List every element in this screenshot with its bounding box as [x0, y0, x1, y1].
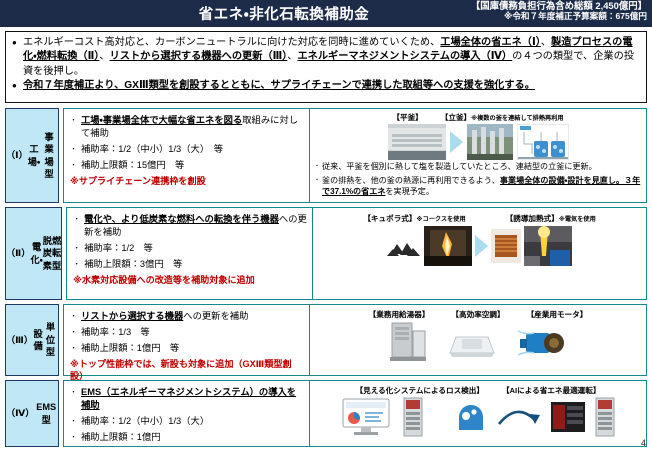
detail-item-text: 補助率：1/2（中小）1/3（大）	[81, 415, 305, 428]
detail-item: ・ 補助率：1/2（中小）1/3（大）	[70, 415, 305, 428]
visual-caption: 【高効率空調】	[451, 309, 504, 320]
row-category-label[interactable]: （Ⅳ）EMS型	[5, 380, 59, 447]
high-efficiency-aircon-photo	[444, 323, 500, 363]
bullet-dot-icon: ・	[70, 310, 81, 323]
detail-item: ・ 工場・事業場全体で大幅な省エネを図る取組みに対して補助	[70, 114, 305, 140]
commercial-water-heater-photo	[388, 321, 428, 365]
detail-item: ・ 補助上限額：15億円 等	[70, 159, 305, 172]
row-note: ※水素対応設備への改造等を補助対象に追加	[73, 274, 308, 286]
category-line: （Ⅱ）	[6, 247, 30, 260]
detail-item-text: 補助上限額：3億円 等	[84, 258, 308, 271]
flat-pan-photo	[388, 124, 446, 160]
category-line: 設備	[33, 328, 43, 353]
induction-coil-photo	[491, 229, 521, 263]
category-row: （Ⅲ）設備単位型 ・ リストから選択する機器への更新を補助 ・ 補助率：1/3 …	[5, 304, 647, 376]
category-line: （Ⅳ）	[6, 407, 34, 420]
row-visual-panel: 【業務用給湯器】【高効率空調】【産業用モータ】	[310, 305, 646, 375]
summary-bullet-text: エネルギーコスト高対応と、カーボンニュートラルに向けた対応を同時に進めていくため…	[23, 36, 640, 79]
slide-root: 省エネ・非化石転換補助金 【国庫債務負担行為含め総額 2,450億円】 ※令和７…	[0, 0, 652, 450]
tall-pan-photo	[467, 124, 513, 160]
row-visual-panel: 【平釜】 【立釜】※複数の釜を連結して排熱再利用 ・ 従来、平釜を個別に熱して塩…	[310, 109, 646, 202]
detail-item-text: 工場・事業場全体で大幅な省エネを図る取組みに対して補助	[81, 114, 305, 140]
transition-arrow-icon	[450, 131, 463, 153]
detail-item-text: 補助上限額：1億円	[81, 431, 305, 444]
bullet-dot-icon: ・	[70, 415, 81, 428]
row-visual-panel: 【キュポラ式】※コークスを使用 【誘導加熱式】※電気を使用	[313, 208, 646, 299]
detail-item: ・ 補助上限額：1億円 等	[70, 342, 305, 355]
bullet-dot-icon: ・	[70, 114, 81, 140]
visual-caption: 【誘導加熱式】※電気を使用	[506, 213, 596, 224]
header-budget-subtitle: ※令和７年度補正予算案額：675億円	[471, 12, 647, 22]
category-row: （Ⅱ）電化・脱炭素燃転型 ・ 電化や、より低炭素な燃料への転換を伴う機器への更新…	[5, 207, 647, 300]
category-line: 電化・	[30, 241, 42, 266]
visual-caption: 【立釜】※複数の釜を連結して排熱再利用	[441, 112, 564, 123]
bullet-dot-icon: ・	[73, 213, 84, 239]
bullet-dot-icon: ・	[314, 162, 322, 173]
bullet-dot-icon: ●	[12, 36, 23, 79]
detail-item-text: 補助率：1/2 等	[84, 242, 308, 255]
bullet-dot-icon: ・	[70, 326, 81, 339]
row-detail-text: ・ 工場・事業場全体で大幅な省エネを図る取組みに対して補助 ・ 補助率：1/2（…	[64, 109, 310, 202]
category-line: 脱炭素	[43, 235, 52, 273]
category-line: （Ⅲ）	[6, 334, 33, 347]
category-line: 燃転型	[52, 235, 61, 273]
visual-note: ・ 従来、平釜を個別に熱して塩を製造していたところ、連結型の立釜に更新。	[314, 162, 642, 173]
detail-item-text: 補助上限額：15億円 等	[81, 159, 305, 172]
summary-box: ●エネルギーコスト高対応と、カーボンニュートラルに向けた対応を同時に進めていくた…	[5, 31, 647, 103]
control-unit-photo	[551, 402, 585, 432]
ai-arrow-icon	[497, 406, 541, 428]
header-budget-total: 【国庫債務負担行為含め総額 2,450億円】	[471, 1, 647, 12]
detail-item-text: 補助率：1/3 等	[81, 326, 305, 339]
row-category-label[interactable]: （Ⅱ）電化・脱炭素燃転型	[5, 207, 62, 300]
row-body: ・ リストから選択する機器への更新を補助 ・ 補助率：1/3 等 ・ 補助上限額…	[63, 304, 647, 376]
detail-item: ・ EMS（エネルギーマネジメントシステム）の導入を補助	[70, 386, 305, 412]
detail-item-text: 補助上限額：1億円 等	[81, 342, 305, 355]
visual-note-text: 従来、平釜を個別に熱して塩を製造していたところ、連結型の立釜に更新。	[322, 162, 642, 173]
bullet-dot-icon: ・	[70, 431, 81, 444]
cupola-furnace-photo	[424, 226, 472, 266]
row-body: ・ 工場・事業場全体で大幅な省エネを図る取組みに対して補助 ・ 補助率：1/2（…	[63, 108, 647, 203]
header-budget-block: 【国庫債務負担行為含め総額 2,450億円】 ※令和７年度補正予算案額：675億…	[471, 1, 647, 21]
detail-item-text: 電化や、より低炭素な燃料への転換を伴う機器への更新を補助	[84, 213, 308, 239]
heat-reuse-diagram	[517, 124, 569, 160]
industrial-motor-photo	[516, 323, 568, 363]
category-row: （Ⅰ）工場・事業場型 ・ 工場・事業場全体で大幅な省エネを図る取組みに対して補助…	[5, 108, 647, 203]
category-line: 工場・	[28, 143, 40, 168]
visual-note: ・ 釜の排熱を、他の釜の熱源に再利用できるよう、事業場全体の設備・設計を見直し。…	[314, 176, 642, 198]
summary-bullet: ●エネルギーコスト高対応と、カーボンニュートラルに向けた対応を同時に進めていくた…	[12, 36, 640, 79]
bullet-dot-icon: ・	[314, 176, 322, 198]
visual-note-text: 釜の排熱を、他の釜の熱源に再利用できるよう、事業場全体の設備・設計を見直し。３年…	[322, 176, 642, 198]
detail-item-text: リストから選択する機器への更新を補助	[81, 310, 305, 323]
plc-controller-photo	[403, 397, 423, 437]
detail-item: ・ 補助上限額：3億円 等	[73, 258, 308, 271]
row-category-label[interactable]: （Ⅰ）工場・事業場型	[5, 108, 59, 203]
category-row: （Ⅳ）EMS型 ・ EMS（エネルギーマネジメントシステム）の導入を補助 ・ 補…	[5, 380, 647, 447]
category-line: （Ⅰ）	[6, 149, 28, 162]
row-detail-text: ・ EMS（エネルギーマネジメントシステム）の導入を補助 ・ 補助率：1/2（中…	[64, 381, 310, 446]
summary-bullet-text: 令和７年度補正より、GXⅢ類型を創設するとともに、サプライチェーンで連携した取組…	[23, 79, 640, 93]
detail-item: ・ リストから選択する機器への更新を補助	[70, 310, 305, 323]
row-note: ※サプライチェーン連携枠を創設	[70, 175, 305, 187]
visual-caption: 【見える化システムによるロス検出】	[356, 385, 484, 396]
bullet-dot-icon: ・	[70, 159, 81, 172]
category-line: 事業場型	[40, 131, 58, 181]
molten-pour-photo	[524, 226, 572, 266]
row-category-label[interactable]: （Ⅲ）設備単位型	[5, 304, 59, 376]
category-rows: （Ⅰ）工場・事業場型 ・ 工場・事業場全体で大幅な省エネを図る取組みに対して補助…	[5, 108, 647, 447]
row-detail-text: ・ 電化や、より低炭素な燃料への転換を伴う機器への更新を補助 ・ 補助率：1/2…	[67, 208, 313, 299]
visual-caption: 【平釜】	[392, 112, 422, 123]
visual-notes: ・ 従来、平釜を個別に熱して塩を製造していたところ、連結型の立釜に更新。 ・ 釜…	[314, 162, 642, 197]
row-visual-panel: 【見える化システムによるロス検出】【AIによる省エネ最適運転】	[310, 381, 646, 446]
bullet-dot-icon: ●	[12, 79, 23, 93]
page-number: 4	[641, 438, 646, 448]
summary-bullet: ●令和７年度補正より、GXⅢ類型を創設するとともに、サプライチェーンで連携した取…	[12, 79, 640, 93]
row-note: ※トップ性能枠では、新設も対象に追加（GXⅢ類型創設）	[70, 358, 305, 382]
detail-item-text: EMS（エネルギーマネジメントシステム）の導入を補助	[81, 386, 305, 412]
detail-item: ・ 補助率：1/2 等	[73, 242, 308, 255]
detail-item: ・ 電化や、より低炭素な燃料への転換を伴う機器への更新を補助	[73, 213, 308, 239]
visual-caption: 【キュポラ式】※コークスを使用	[363, 213, 465, 224]
bullet-dot-icon: ・	[70, 386, 81, 412]
row-body: ・ EMS（エネルギーマネジメントシステム）の導入を補助 ・ 補助率：1/2（中…	[63, 380, 647, 447]
visual-caption: 【AIによる省エネ最適運転】	[502, 385, 601, 396]
bullet-dot-icon: ・	[70, 143, 81, 156]
ai-head-icon	[453, 400, 487, 434]
plc-controller-photo	[595, 397, 615, 437]
category-line: EMS型	[34, 401, 58, 426]
visual-caption: 【業務用給湯器】	[369, 309, 430, 320]
detail-item: ・ 補助率：1/3 等	[70, 326, 305, 339]
detail-item: ・ 補助率：1/2（中小）1/3（大） 等	[70, 143, 305, 156]
bullet-dot-icon: ・	[73, 258, 84, 271]
slide-header: 省エネ・非化石転換補助金 【国庫債務負担行為含め総額 2,450億円】 ※令和７…	[0, 0, 652, 27]
bullet-dot-icon: ・	[70, 342, 81, 355]
row-detail-text: ・ リストから選択する機器への更新を補助 ・ 補助率：1/3 等 ・ 補助上限額…	[64, 305, 310, 375]
transition-arrow-icon	[475, 235, 488, 257]
coal-pile-icon	[387, 234, 421, 258]
detail-item-text: 補助率：1/2（中小）1/3（大） 等	[81, 143, 305, 156]
category-line: 単位型	[43, 321, 58, 359]
detail-item: ・ 補助上限額：1億円	[70, 431, 305, 444]
bullet-dot-icon: ・	[73, 242, 84, 255]
visualization-monitor-photo	[341, 397, 393, 437]
row-body: ・ 電化や、より低炭素な燃料への転換を伴う機器への更新を補助 ・ 補助率：1/2…	[66, 207, 647, 300]
visual-caption: 【産業用モータ】	[527, 309, 588, 320]
